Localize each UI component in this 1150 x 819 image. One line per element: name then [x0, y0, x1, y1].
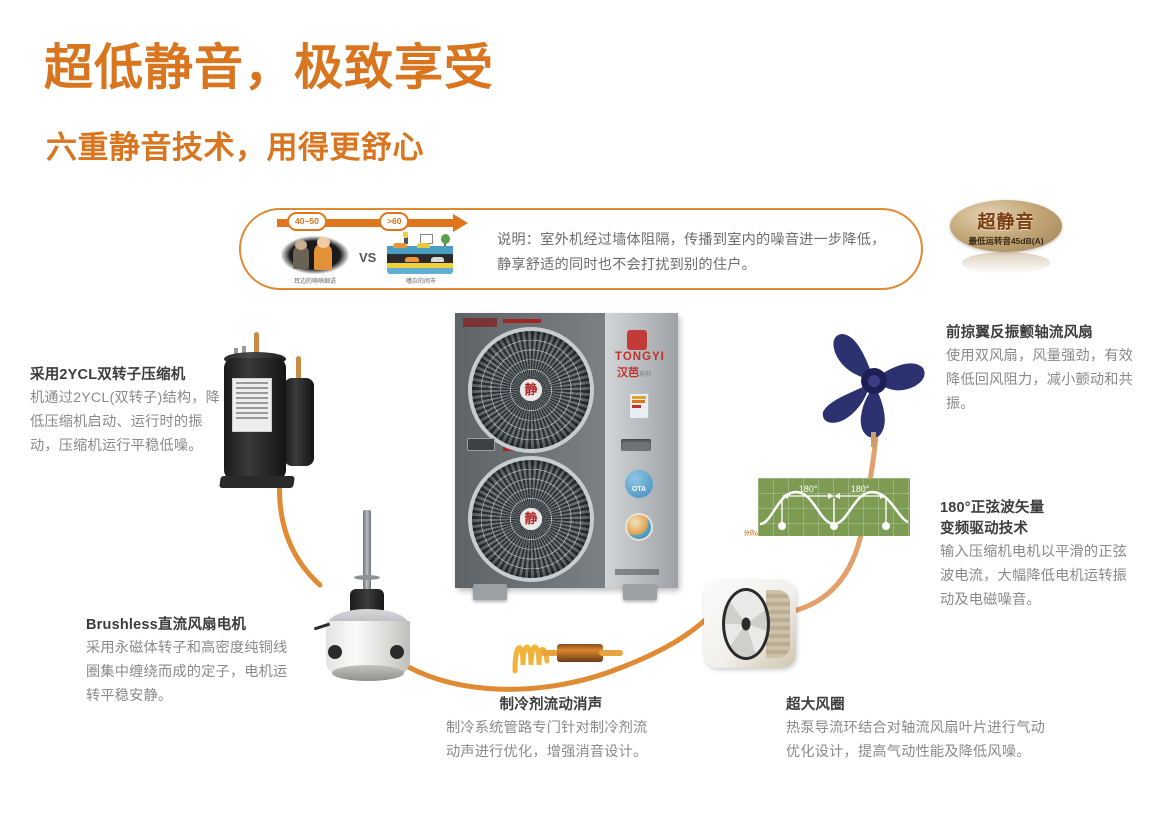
- unit-top-label: [463, 318, 497, 327]
- unit-red-strip-top: [503, 319, 541, 323]
- car-icon-4: [431, 257, 444, 262]
- motor-shaft: [363, 510, 371, 594]
- feature-refrigerant-muffler-title: 制冷剂流动消声: [446, 694, 656, 716]
- feature-big-air-ring-title: 超大风圈: [786, 694, 1052, 716]
- brand-series: 汉芭系列: [617, 364, 651, 380]
- refrigerant-muffler-photo: [505, 625, 627, 685]
- feature-sine-drive: 180°正弦波矢量 变频驱动技术 输入压缩机电机以平滑的正弦波电流，大幅降低电机…: [940, 498, 1140, 612]
- feature-brushless-motor: Brushless直流风扇电机 采用永磁体转子和高密度纯铜线圈集中缠绕而成的定子…: [86, 614, 301, 708]
- sine-wave-chart: 180° 180°: [758, 478, 910, 536]
- whisper-caption: 耳边的喃喃细语: [275, 276, 355, 285]
- sine-label-left: 180°: [799, 484, 818, 494]
- feature-sine-drive-title2: 变频驱动技术: [940, 519, 1140, 540]
- motor-mount-left: [328, 645, 342, 659]
- unit-vent-left: [467, 438, 495, 451]
- car-icon-2: [417, 243, 430, 248]
- decibel-pill-low: 40~50分贝(A): [287, 212, 327, 231]
- city-traffic-photo: [387, 232, 453, 274]
- feature-big-air-ring-desc: 热泵导流环结合对轴流风扇叶片进行气动优化设计，提高气动性能及降低风噪。: [786, 716, 1052, 764]
- fan-hub-top: 静: [520, 379, 542, 401]
- feature-refrigerant-muffler: 制冷剂流动消声 制冷系统管路专门针对制冷剂流动声进行优化，增强消音设计。: [446, 694, 656, 764]
- motor-mount-right: [390, 645, 404, 659]
- page-title: 超低静音，极致享受: [44, 38, 494, 98]
- poster-canvas: 超低静音，极致享受 六重静音技术，用得更舒心 40~50分贝(A) >60分贝(…: [0, 0, 1150, 819]
- badge-subtitle: 最低运转音45dB(A): [950, 235, 1062, 247]
- energy-label-sticker: [629, 393, 649, 419]
- unit-fan-bottom: 静: [468, 456, 594, 582]
- feature-compressor: 采用2YCL双转子压缩机 机通过2YCL(双转子)结构，降低压缩机启动、运行时的…: [30, 364, 230, 458]
- feature-axial-fan-desc: 使用双风扇，风量强劲，有效降低回风阻力，减小颤动和共振。: [946, 344, 1146, 416]
- fan-hub-bottom: 静: [520, 508, 542, 530]
- muffler-outlet-tube: [599, 650, 623, 656]
- callout-note: 说明：室外机经过墙体阻隔，传播到室内的噪音进一步降低，静享舒适的同时也不会打扰到…: [497, 228, 897, 278]
- sine-label-right: 180°: [851, 484, 870, 494]
- car-icon-3: [405, 257, 419, 262]
- car-icon-1: [393, 243, 407, 248]
- compressor-spec-label: [232, 378, 272, 432]
- page-subtitle: 六重静音技术，用得更舒心: [46, 128, 424, 168]
- feature-big-air-ring: 超大风圈 热泵导流环结合对轴流风扇叶片进行气动优化设计，提高气动性能及降低风噪。: [786, 694, 1052, 764]
- unit-serial-label: [615, 569, 659, 575]
- person-icon-left: [293, 245, 309, 269]
- decibel-pill-high: >60分贝(A): [379, 212, 409, 231]
- feature-brushless-motor-desc: 采用永磁体转子和高密度纯铜线圈集中缠绕而成的定子，电机运转平稳安静。: [86, 636, 301, 708]
- person-icon-right: [314, 243, 332, 270]
- feature-axial-fan: 前掠翼反振颤轴流风扇 使用双风扇，风量强劲，有效降低回风阻力，减小颤动和共振。: [946, 322, 1146, 416]
- road-lane-4: [387, 268, 453, 274]
- noise-comparison-illustration: 40~50分贝(A) >60分贝(A) VS 耳边的喃喃细语 嘈杂的闹市: [265, 214, 480, 286]
- feature-brushless-motor-title: Brushless直流风扇电机: [86, 614, 301, 636]
- tree-icon: [441, 234, 450, 244]
- feature-compressor-desc: 机通过2YCL(双转子)结构，降低压缩机启动、运行时的振动，压缩机运行平稳低噪。: [30, 386, 230, 458]
- ota-badge-icon: OTA: [625, 470, 653, 498]
- heat-pump-unit-photo: 静 静 TONGYI 汉芭系列 OTA: [455, 313, 678, 600]
- compressor-base-plate: [219, 476, 295, 488]
- taiji-badge-icon: [625, 513, 653, 541]
- unit-foot-left: [473, 584, 507, 600]
- fan-ring-outline: [722, 588, 770, 660]
- vs-label: VS: [359, 250, 376, 265]
- whisper-photo: [281, 236, 349, 274]
- motor-bottom: [332, 665, 404, 681]
- unit-fan-top: 静: [468, 327, 594, 453]
- status-badge-ultra-quiet: 超静音 最低运转音45dB(A): [950, 200, 1062, 252]
- unit-body: 静 静 TONGYI 汉芭系列 OTA: [455, 313, 678, 588]
- city-caption: 嘈杂的闹市: [381, 276, 461, 285]
- unit-vent-right: [621, 439, 651, 451]
- brand-name: TONGYI: [615, 351, 665, 363]
- axial-fan-blade-photo: [815, 322, 935, 447]
- feature-sine-drive-title: 180°正弦波矢量: [940, 498, 1140, 519]
- fan-ring-hub: [742, 618, 751, 631]
- badge-reflection: [962, 252, 1050, 274]
- feature-sine-drive-desc: 输入压缩机电机以平滑的正弦波电流，大幅降低电机运转振动及电磁噪音。: [940, 540, 1140, 612]
- unit-foot-right: [623, 584, 657, 600]
- muffler-body: [557, 644, 603, 662]
- feature-axial-fan-title: 前掠翼反振颤轴流风扇: [946, 322, 1146, 344]
- compressor-accumulator: [284, 378, 314, 466]
- brushless-motor-photo: [310, 505, 425, 685]
- brand-logo-icon: [627, 330, 647, 350]
- motor-collar: [354, 575, 380, 580]
- noise-arrow-head: [453, 214, 468, 232]
- air-ring-fan-photo: [704, 580, 796, 668]
- badge-title: 超静音: [950, 208, 1062, 234]
- feature-compressor-title: 采用2YCL双转子压缩机: [30, 364, 230, 386]
- feature-refrigerant-muffler-desc: 制冷系统管路专门针对制冷剂流动声进行优化，增强消音设计。: [446, 716, 656, 764]
